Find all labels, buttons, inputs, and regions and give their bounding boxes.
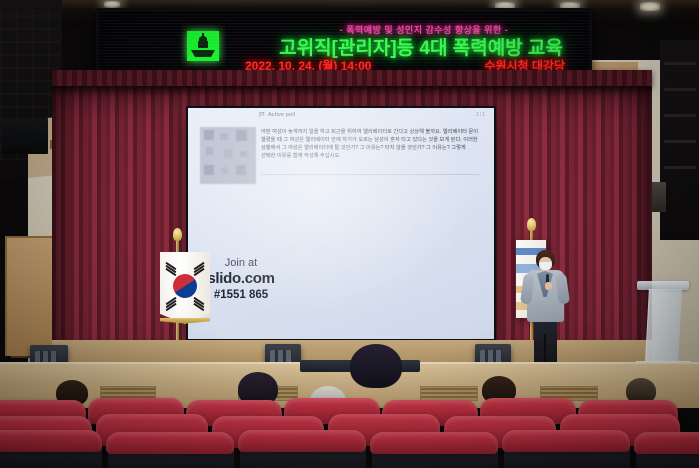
seat: [370, 432, 498, 454]
flag-finial-icon: [173, 228, 182, 241]
poll-flag-icon: [259, 112, 265, 118]
seat: [502, 430, 630, 452]
active-poll-label: Active poll: [268, 112, 295, 118]
acrylic-lectern[interactable]: [641, 281, 685, 373]
slide-page-indicator: 1/1: [476, 112, 486, 118]
curtain-valance: [52, 70, 652, 86]
join-event-code: #1551 865: [200, 288, 282, 303]
join-url: slido.com: [200, 270, 282, 288]
seat: [238, 430, 366, 452]
stage-vent-grille: [420, 386, 478, 401]
flag-finial-icon: [527, 218, 536, 231]
ceiling-light-icon: [640, 2, 660, 11]
presenter-leg-split: [544, 334, 546, 364]
projected-slide: Active poll 1/1 어떤 여성이 늦게까지 일을 하고 퇴근을 위하…: [188, 108, 494, 339]
auditorium-photo: - 폭력예방 및 성인지 감수성 향상을 위한 - 고위직[관리자]등 4대 폭…: [0, 0, 699, 468]
suwon-city-emblem-icon: [181, 25, 225, 67]
slide-topbar: [188, 108, 494, 126]
join-instructions: Join at slido.com #1551 865: [200, 257, 282, 303]
taegukgi-flag: [160, 252, 210, 324]
wall-mounted-speaker: [2, 118, 48, 154]
led-banner-title: 고위직[관리자]등 4대 폭력예방 교육: [241, 33, 592, 60]
poll-question-text: 어떤 여성이 늦게까지 일을 하고 퇴근을 위하여 엘리베이터로 간다고 상상해…: [261, 128, 479, 160]
audience-head: [350, 344, 402, 388]
poll-divider: [261, 174, 479, 175]
projection-screen-frame: Active poll 1/1 어떤 여성이 늦게까지 일을 하고 퇴근을 위하…: [186, 106, 496, 341]
seat: [634, 432, 699, 454]
join-at-label: Join at: [200, 257, 282, 270]
active-poll-status: Active poll: [259, 112, 295, 118]
lectern-body: [645, 289, 682, 363]
seat: [0, 430, 102, 452]
ceiling-light-icon: [104, 1, 120, 8]
presenter-with-microphone: [521, 250, 569, 373]
presenter-hand: [545, 282, 552, 290]
seat: [106, 432, 234, 454]
qr-code-blurred-image: [200, 127, 256, 184]
